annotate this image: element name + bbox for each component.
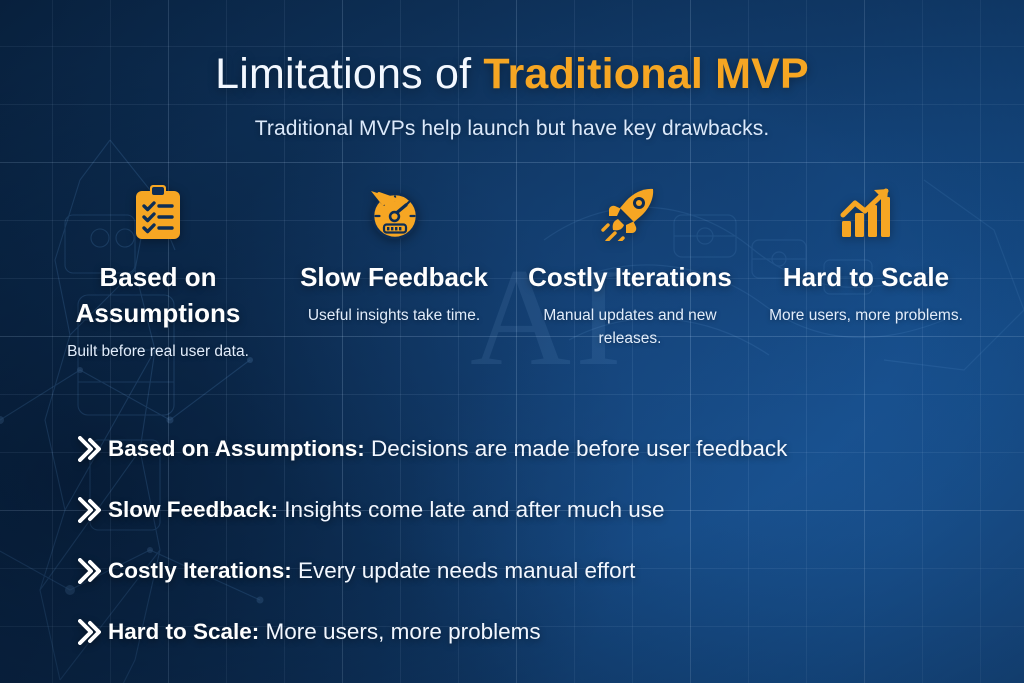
list-item-lead: Based on Assumptions: (108, 436, 365, 461)
list-item-detail: Every update needs manual effort (292, 558, 636, 583)
pillar-card: Based on Assumptions Built before real u… (42, 182, 274, 363)
pillar-card-desc: More users, more problems. (750, 305, 982, 328)
double-chevron-right-icon (78, 619, 108, 645)
speedometer-icon (278, 182, 510, 244)
pillar-card-desc: Useful insights take time. (278, 305, 510, 328)
double-chevron-right-icon (78, 497, 108, 523)
pillar-card-title: Based on Assumptions (42, 260, 274, 332)
pillar-card-title: Costly Iterations (514, 260, 746, 296)
pillar-card-title: Hard to Scale (750, 260, 982, 296)
page-title-accent: Traditional MVP (483, 50, 809, 98)
clipboard-checklist-icon (42, 182, 274, 244)
pillar-card: Slow Feedback Useful insights take time. (278, 182, 510, 363)
header: Limitations of Traditional MVP Tradition… (0, 52, 1024, 141)
limitations-list: Based on Assumptions: Decisions are made… (78, 418, 984, 662)
list-item-text: Hard to Scale: More users, more problems (108, 618, 541, 645)
double-chevron-right-icon (78, 558, 108, 584)
page-title-plain: Limitations of (215, 50, 483, 98)
pillar-card-desc: Built before real user data. (42, 341, 274, 364)
list-item: Hard to Scale: More users, more problems (78, 601, 984, 662)
list-item-detail: Insights come late and after much use (278, 497, 664, 522)
double-chevron-right-icon (78, 436, 108, 462)
pillar-card-desc: Manual updates and new releases. (514, 305, 746, 350)
list-item-lead: Slow Feedback: (108, 497, 278, 522)
list-item-text: Slow Feedback: Insights come late and af… (108, 496, 665, 523)
list-item-lead: Hard to Scale: (108, 619, 259, 644)
page-subtitle: Traditional MVPs help launch but have ke… (0, 117, 1024, 141)
pillar-card: Hard to Scale More users, more problems. (750, 182, 982, 363)
list-item: Based on Assumptions: Decisions are made… (78, 418, 984, 479)
pillar-card-row: Based on Assumptions Built before real u… (42, 182, 982, 363)
page-title: Limitations of Traditional MVP (0, 52, 1024, 97)
list-item: Costly Iterations: Every update needs ma… (78, 540, 984, 601)
list-item-text: Based on Assumptions: Decisions are made… (108, 435, 787, 462)
growth-chart-icon (750, 182, 982, 244)
list-item-lead: Costly Iterations: (108, 558, 292, 583)
list-item: Slow Feedback: Insights come late and af… (78, 479, 984, 540)
list-item-detail: Decisions are made before user feedback (365, 436, 788, 461)
pillar-card: Costly Iterations Manual updates and new… (514, 182, 746, 363)
list-item-text: Costly Iterations: Every update needs ma… (108, 557, 635, 584)
pillar-card-title: Slow Feedback (278, 260, 510, 296)
list-item-detail: More users, more problems (259, 619, 540, 644)
rocket-icon (514, 182, 746, 244)
slide-canvas: AI Limitations of Traditional MVP Tradit… (0, 0, 1024, 683)
